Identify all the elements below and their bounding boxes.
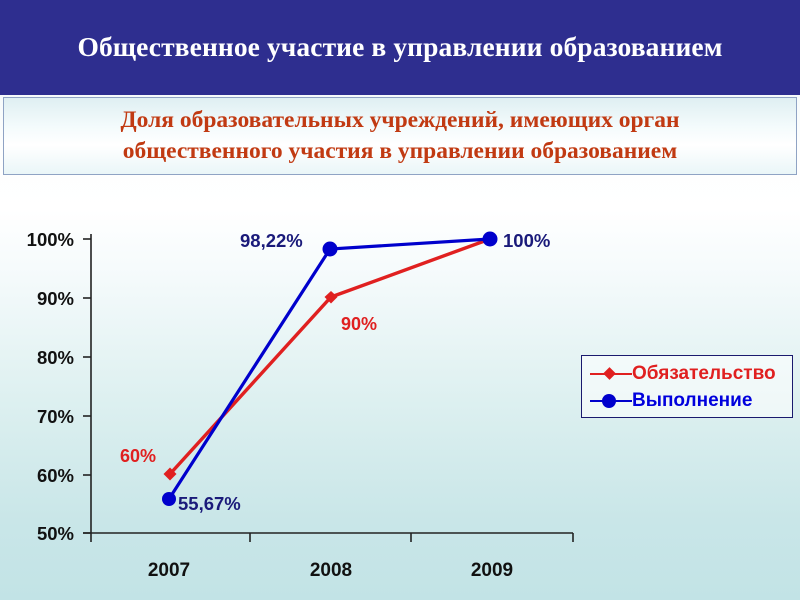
- legend-item-obligation[interactable]: Обязательство: [582, 360, 792, 387]
- legend-swatch-blue: [590, 393, 632, 409]
- y-axis-label-60: 60%: [37, 465, 74, 486]
- page-title: Общественное участие в управлении образо…: [77, 32, 722, 62]
- data-label-obligation-2007: 60%: [120, 446, 156, 466]
- chart-legend: Обязательство Выполнение: [581, 355, 793, 418]
- y-axis-label-80: 80%: [37, 347, 74, 368]
- y-axis-label-70: 70%: [37, 406, 74, 427]
- x-axis-label-2008: 2008: [310, 560, 352, 581]
- y-axis-label-90: 90%: [37, 288, 74, 309]
- subtitle-line-1: Доля образовательных учреждений, имеющих…: [120, 105, 679, 136]
- slide: Общественное участие в управлении образо…: [0, 0, 800, 600]
- y-axis-label-100: 100%: [27, 229, 74, 250]
- data-label-performance-2009: 100%: [503, 230, 550, 251]
- series-point-performance-2009: [483, 232, 498, 247]
- y-axis-label-50: 50%: [37, 523, 74, 544]
- series-line-performance: [169, 239, 490, 499]
- data-label-performance-2008: 98,22%: [240, 230, 303, 251]
- series-point-performance-2007: [162, 492, 176, 506]
- legend-label-performance: Выполнение: [632, 391, 752, 410]
- data-label-obligation-2008: 90%: [341, 314, 377, 334]
- series-point-performance-2008: [323, 242, 338, 257]
- title-band: Общественное участие в управлении образо…: [0, 0, 800, 95]
- legend-swatch-red: [590, 366, 632, 382]
- data-label-performance-2007: 55,67%: [178, 493, 241, 514]
- subtitle-panel: Доля образовательных учреждений, имеющих…: [3, 97, 797, 175]
- line-chart: 100% 90% 80% 70% 60% 50% 2007 2008 2009 …: [0, 176, 800, 600]
- series-line-obligation: [170, 239, 490, 474]
- diamond-marker-icon: [603, 367, 616, 380]
- x-axis-label-2007: 2007: [148, 560, 190, 581]
- legend-label-obligation: Обязательство: [632, 364, 776, 383]
- legend-item-performance[interactable]: Выполнение: [582, 387, 792, 414]
- circle-marker-icon: [602, 394, 616, 408]
- x-axis-label-2009: 2009: [471, 560, 513, 581]
- subtitle-line-2: общественного участия в управлении образ…: [123, 136, 677, 167]
